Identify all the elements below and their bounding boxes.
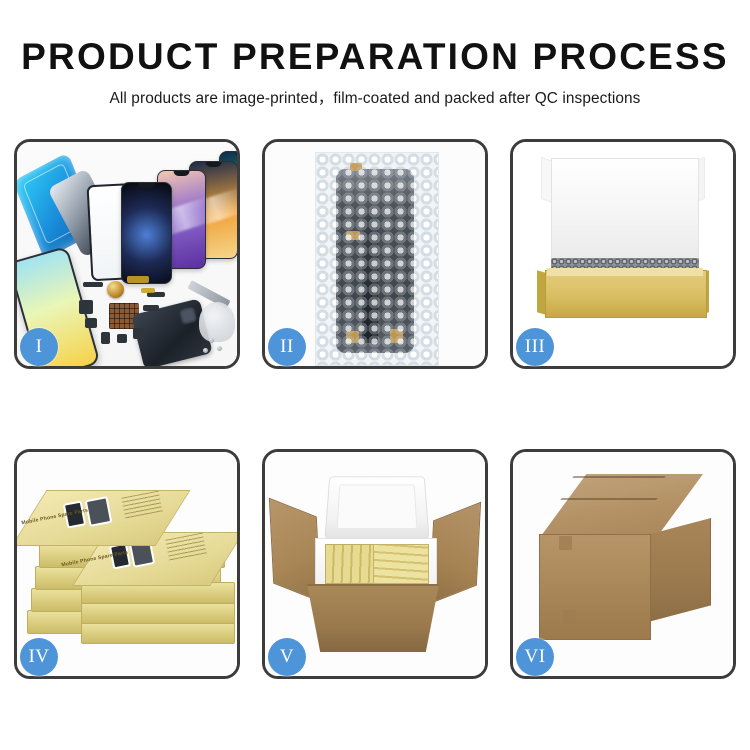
panel-badge-3: III bbox=[516, 328, 554, 366]
part-icon bbox=[117, 334, 127, 343]
carton-seam bbox=[560, 498, 658, 500]
process-card-6[interactable]: VI bbox=[510, 449, 736, 679]
phone-screen-1 bbox=[121, 182, 172, 284]
flex-cable-icon bbox=[141, 288, 155, 293]
wrapped-flex-icon bbox=[362, 213, 378, 343]
tape-icon bbox=[390, 329, 403, 343]
box-stack: Mobile Phone Spare Parts Mobile Phone Sp… bbox=[23, 470, 237, 666]
process-card-4[interactable]: Mobile Phone Spare Parts Mobile Phone Sp… bbox=[14, 449, 240, 679]
part-icon bbox=[85, 318, 97, 328]
tape-icon bbox=[346, 231, 360, 240]
yellow-box-body-icon bbox=[545, 270, 707, 318]
screw-icon bbox=[203, 348, 208, 353]
screw-icon bbox=[209, 338, 214, 343]
stacked-box bbox=[81, 622, 235, 644]
hand-icon bbox=[199, 302, 235, 342]
panel-badge-1: I bbox=[20, 328, 58, 366]
process-grid: I II bbox=[14, 139, 736, 684]
process-card-1[interactable]: I bbox=[14, 139, 240, 369]
panel-badge-5: V bbox=[268, 638, 306, 676]
process-card-2[interactable]: II bbox=[262, 139, 488, 369]
part-icon bbox=[101, 332, 110, 344]
carton-front-icon bbox=[307, 584, 439, 652]
process-card-5[interactable]: V bbox=[262, 449, 488, 679]
tape-icon bbox=[350, 163, 362, 171]
bubble-bag-icon bbox=[315, 152, 439, 366]
carton-seam bbox=[572, 476, 666, 478]
part-icon bbox=[83, 282, 103, 287]
foam-lid-icon bbox=[324, 476, 429, 538]
box-top-edge bbox=[547, 268, 703, 276]
page-title: PRODUCT PREPARATION PROCESS bbox=[0, 38, 750, 77]
box-label-image bbox=[87, 498, 110, 524]
process-card-3[interactable]: III bbox=[510, 139, 736, 369]
panel-badge-6: VI bbox=[516, 638, 554, 676]
panel-badge-4: IV bbox=[20, 638, 58, 676]
product-preparation-infographic: PRODUCT PREPARATION PROCESS All products… bbox=[0, 0, 750, 750]
part-icon bbox=[143, 305, 159, 311]
tape-icon bbox=[346, 331, 359, 343]
page-subtitle: All products are image-printed，film-coat… bbox=[0, 86, 750, 108]
stacked-box bbox=[81, 602, 235, 624]
screw-icon bbox=[217, 346, 222, 351]
flex-cable-icon bbox=[127, 276, 149, 283]
carton-tape-patch bbox=[559, 536, 572, 550]
carton-tape-patch bbox=[563, 610, 576, 624]
carton-side-face bbox=[648, 518, 711, 622]
header: PRODUCT PREPARATION PROCESS All products… bbox=[0, 0, 750, 108]
part-icon bbox=[133, 328, 144, 339]
coil-component-icon bbox=[107, 281, 124, 298]
carton-front-face bbox=[539, 534, 651, 640]
panel-badge-2: II bbox=[268, 328, 306, 366]
inner-yellow-boxes bbox=[373, 544, 429, 584]
part-icon bbox=[79, 300, 93, 314]
